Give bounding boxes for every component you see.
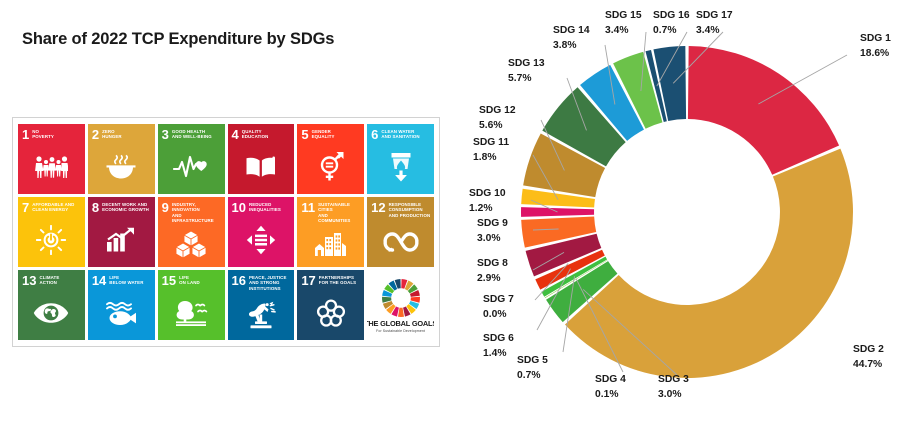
sdg-tile-7: 7AFFORDABLE ANDCLEAN ENERGY — [18, 197, 85, 267]
sdg-tile-17: 17PARTNERSHIPSFOR THE GOALS — [297, 270, 364, 340]
sdg-tile-number: 3 — [162, 128, 169, 141]
sdg-tile-number: 16 — [232, 274, 246, 287]
sdg-tile-2: 2ZEROHUNGER — [88, 124, 155, 194]
sdg-tile-number: 4 — [232, 128, 239, 141]
donut-label-value: 3.0% — [658, 389, 681, 400]
tree-birds-icon — [158, 287, 225, 340]
sdg-tile-title: CLEAN WATERAND SANITATION — [381, 128, 419, 140]
cubes-icon — [158, 224, 225, 268]
sdg-tile-number: 8 — [92, 201, 99, 214]
sdg-tile-number: 17 — [301, 274, 315, 287]
city-icon — [297, 224, 364, 268]
sdg-tile-13: 13CLIMATEACTION — [18, 270, 85, 340]
donut-label-name: SDG 2 — [853, 344, 884, 355]
family-icon — [18, 141, 85, 194]
sdg-tile-header: 16PEACE, JUSTICEAND STRONGINSTITUTIONS — [228, 270, 295, 291]
donut-label-value: 3.4% — [605, 25, 628, 36]
sdg-tile-number: 1 — [22, 128, 29, 141]
donut-label-name: SDG 14 — [553, 25, 590, 36]
donut-label-sdg-16: SDG 160.7% — [653, 10, 690, 36]
global-goals-logo: THE GLOBAL GOALSFor Sustainable Developm… — [367, 270, 434, 340]
donut-label-name: SDG 10 — [469, 188, 506, 199]
sdg-tile-header: 15LIFEON LAND — [158, 270, 225, 287]
donut-label-name: SDG 15 — [605, 10, 642, 21]
sdg-tile-number: 9 — [162, 201, 169, 214]
donut-label-name: SDG 9 — [477, 218, 508, 229]
donut-label-name: SDG 16 — [653, 10, 690, 21]
donut-label-sdg-11: SDG 111.8% — [473, 137, 509, 163]
sdg-tile-header: 8DECENT WORK ANDECONOMIC GROWTH — [88, 197, 155, 214]
donut-label-value: 2.9% — [477, 273, 500, 284]
page-title: Share of 2022 TCP Expenditure by SDGs — [22, 30, 334, 49]
donut-label-sdg-14: SDG 143.8% — [553, 25, 590, 51]
screenshot-root: Share of 2022 TCP Expenditure by SDGs 1N… — [0, 0, 920, 426]
gender-icon — [297, 141, 364, 194]
donut-label-sdg-4: SDG 40.1% — [595, 374, 626, 400]
donut-label-name: SDG 17 — [696, 10, 733, 21]
sdg-tile-number: 5 — [301, 128, 308, 141]
sdg-tile-number: 14 — [92, 274, 106, 287]
donut-slices — [521, 46, 853, 378]
donut-label-sdg-2: SDG 244.7% — [853, 344, 884, 370]
sdg-tile-title: LIFEON LAND — [179, 274, 200, 286]
sdg-tile-8: 8DECENT WORK ANDECONOMIC GROWTH — [88, 197, 155, 267]
donut-label-name: SDG 6 — [483, 333, 514, 344]
sdg-tile-header: 11SUSTAINABLE CITIESAND COMMUNITIES — [297, 197, 364, 224]
sdg-tile-header: 7AFFORDABLE ANDCLEAN ENERGY — [18, 197, 85, 214]
donut-label-value: 1.2% — [469, 203, 492, 214]
sdg-tile-title: DECENT WORK ANDECONOMIC GROWTH — [102, 201, 149, 213]
donut-label-name: SDG 3 — [658, 374, 689, 385]
eye-globe-icon — [18, 287, 85, 340]
global-goals-title: THE GLOBAL GOALS — [367, 319, 434, 328]
sdg-tile-title: LIFEBELOW WATER — [109, 274, 143, 286]
infinity-icon — [367, 218, 434, 267]
donut-label-sdg-1: SDG 118.6% — [860, 33, 891, 59]
sdg-tile-header: 12RESPONSIBLECONSUMPTIONAND PRODUCTION — [367, 197, 434, 218]
sdg-tile-header: 13CLIMATEACTION — [18, 270, 85, 287]
donut-label-value: 1.8% — [473, 152, 496, 163]
dove-gavel-icon — [228, 291, 295, 340]
sdg-tile-6: 6CLEAN WATERAND SANITATION — [367, 124, 434, 194]
donut-label-sdg-5: SDG 50.7% — [517, 355, 548, 381]
sdg-expenditure-donut-chart: SDG 118.6%SDG 244.7%SDG 33.0%SDG 40.1%SD… — [455, 0, 920, 426]
donut-label-value: 5.6% — [479, 120, 502, 131]
rings-icon — [297, 287, 364, 340]
sdg-tile-title: INDUSTRY, INNOVATIONAND INFRASTRUCTURE — [172, 201, 222, 224]
sdg-tile-9: 9INDUSTRY, INNOVATIONAND INFRASTRUCTURE — [158, 197, 225, 267]
sdg-tile-number: 12 — [371, 201, 385, 214]
sdg-tile-title: ZEROHUNGER — [102, 128, 122, 140]
donut-label-name: SDG 4 — [595, 374, 626, 385]
sdg-tile-number: 7 — [22, 201, 29, 214]
sdg-tile-header: 14LIFEBELOW WATER — [88, 270, 155, 287]
sdg-tile-number: 11 — [301, 201, 315, 214]
fish-icon — [88, 287, 155, 340]
donut-label-sdg-15: SDG 153.4% — [605, 10, 642, 36]
heartbeat-icon — [158, 141, 225, 194]
sdg-tile-header: 3GOOD HEALTHAND WELL-BEING — [158, 124, 225, 141]
water-drop-icon — [367, 141, 434, 194]
sdg-tile-title: SUSTAINABLE CITIESAND COMMUNITIES — [318, 201, 361, 224]
sdg-tile-title: CLIMATEACTION — [39, 274, 59, 286]
donut-label-sdg-12: SDG 125.6% — [479, 105, 516, 131]
sdg-tile-title: REDUCEDINEQUALITIES — [249, 201, 281, 213]
sdg-tile-header: 9INDUSTRY, INNOVATIONAND INFRASTRUCTURE — [158, 197, 225, 224]
sdg-tile-number: 6 — [371, 128, 378, 141]
donut-label-sdg-13: SDG 135.7% — [508, 58, 545, 84]
donut-slice-sdg-1[interactable] — [688, 46, 839, 175]
donut-label-name: SDG 5 — [517, 355, 548, 366]
donut-label-value: 0.7% — [653, 25, 676, 36]
donut-label-sdg-17: SDG 173.4% — [696, 10, 733, 36]
sdg-tile-1: 1NOPOVERTY — [18, 124, 85, 194]
growth-chart-icon — [88, 214, 155, 267]
sdg-tile-header: 2ZEROHUNGER — [88, 124, 155, 141]
donut-label-sdg-3: SDG 33.0% — [658, 374, 689, 400]
donut-label-value: 18.6% — [860, 48, 889, 59]
sdg-tile-3: 3GOOD HEALTHAND WELL-BEING — [158, 124, 225, 194]
global-goals-subtitle: For Sustainable Development — [376, 329, 425, 333]
donut-label-value: 3.0% — [477, 233, 500, 244]
sdg-goals-grid: 1NOPOVERTY2ZEROHUNGER3GOOD HEALTHAND WEL… — [18, 124, 434, 340]
donut-label-value: 3.8% — [553, 40, 576, 51]
donut-label-sdg-9: SDG 93.0% — [477, 218, 508, 244]
donut-chart-svg: SDG 118.6%SDG 244.7%SDG 33.0%SDG 40.1%SD… — [455, 0, 920, 426]
sdg-tile-16: 16PEACE, JUSTICEAND STRONGINSTITUTIONS — [228, 270, 295, 340]
sdg-tile-number: 10 — [232, 201, 246, 214]
donut-label-name: SDG 13 — [508, 58, 545, 69]
donut-slice-sdg-10[interactable] — [521, 207, 594, 217]
sdg-tile-header: 6CLEAN WATERAND SANITATION — [367, 124, 434, 141]
donut-label-name: SDG 11 — [473, 137, 509, 148]
donut-label-name: SDG 7 — [483, 294, 514, 305]
sdg-tile-title: AFFORDABLE ANDCLEAN ENERGY — [32, 201, 74, 213]
donut-label-name: SDG 8 — [477, 258, 508, 269]
sdg-tile-title: NOPOVERTY — [32, 128, 54, 140]
sdg-tile-title: QUALITYEDUCATION — [242, 128, 269, 140]
sdg-tile-10: 10REDUCEDINEQUALITIES — [228, 197, 295, 267]
donut-label-value: 0.7% — [517, 370, 540, 381]
sdg-tile-12: 12RESPONSIBLECONSUMPTIONAND PRODUCTION — [367, 197, 434, 267]
bowl-icon — [88, 141, 155, 194]
sdg-tile-title: GOOD HEALTHAND WELL-BEING — [172, 128, 212, 140]
donut-label-sdg-6: SDG 61.4% — [483, 333, 514, 359]
sdg-tile-header: 17PARTNERSHIPSFOR THE GOALS — [297, 270, 364, 287]
sdg-tile-11: 11SUSTAINABLE CITIESAND COMMUNITIES — [297, 197, 364, 267]
sdg-tile-title: PEACE, JUSTICEAND STRONGINSTITUTIONS — [249, 274, 287, 291]
equal-arrows-icon — [228, 214, 295, 267]
sdg-tile-title: RESPONSIBLECONSUMPTIONAND PRODUCTION — [389, 201, 431, 218]
global-goals-wheel-icon — [381, 278, 421, 318]
donut-label-value: 1.4% — [483, 348, 506, 359]
sdg-tile-4: 4QUALITYEDUCATION — [228, 124, 295, 194]
sun-power-icon — [18, 214, 85, 267]
sdg-tile-header: 10REDUCEDINEQUALITIES — [228, 197, 295, 214]
sdg-tile-header: 1NOPOVERTY — [18, 124, 85, 141]
sdg-tile-number: 13 — [22, 274, 36, 287]
donut-label-value: 3.4% — [696, 25, 719, 36]
sdg-tile-number: 2 — [92, 128, 99, 141]
sdg-tile-number: 15 — [162, 274, 176, 287]
sdg-tile-title: GENDEREQUALITY — [312, 128, 335, 140]
donut-label-sdg-8: SDG 82.9% — [477, 258, 508, 284]
sdg-tile-5: 5GENDEREQUALITY — [297, 124, 364, 194]
book-icon — [228, 141, 295, 194]
donut-label-name: SDG 1 — [860, 33, 891, 44]
donut-label-name: SDG 12 — [479, 105, 516, 116]
donut-label-sdg-10: SDG 101.2% — [469, 188, 506, 214]
sdg-tile-15: 15LIFEON LAND — [158, 270, 225, 340]
donut-label-sdg-7: SDG 70.0% — [483, 294, 514, 320]
sdg-tile-14: 14LIFEBELOW WATER — [88, 270, 155, 340]
donut-label-value: 44.7% — [853, 359, 882, 370]
sdg-goals-poster: 1NOPOVERTY2ZEROHUNGER3GOOD HEALTHAND WEL… — [12, 117, 440, 347]
sdg-tile-title: PARTNERSHIPSFOR THE GOALS — [319, 274, 356, 286]
sdg-tile-header: 4QUALITYEDUCATION — [228, 124, 295, 141]
donut-label-value: 0.0% — [483, 309, 506, 320]
donut-label-value: 0.1% — [595, 389, 618, 400]
donut-label-value: 5.7% — [508, 73, 531, 84]
sdg-tile-header: 5GENDEREQUALITY — [297, 124, 364, 141]
